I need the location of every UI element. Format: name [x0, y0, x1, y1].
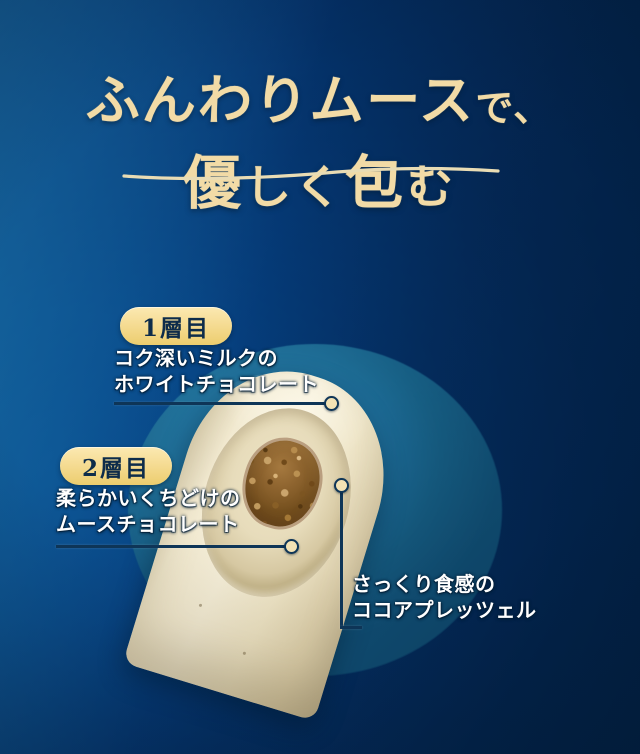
pretzel-leader-line-vertical [340, 486, 343, 629]
layer-1-leader-line [114, 402, 336, 405]
layer-1-badge: 1層目 [120, 307, 232, 345]
pretzel-description-line-1: さっくり食感の [352, 572, 537, 598]
layer-2-description-line-2: ムースチョコレート [56, 512, 241, 538]
cocoa-pretzel-filling [235, 432, 329, 535]
layer-2-description: 柔らかいくちどけの ムースチョコレート [56, 486, 241, 537]
layer-1-description-line-1: コク深いミルクの [114, 346, 319, 372]
pretzel-leader-line-horizontal [340, 626, 362, 629]
layer-1-description-line-2: ホワイトチョコレート [114, 372, 319, 398]
promo-image: ふんわりムースで、 優しく包む 1層目 コク深いミルクの ホワイトチョコレート … [0, 0, 640, 754]
layer-2-leader-dot [284, 539, 299, 554]
pretzel-description-line-2: ココアプレッツェル [352, 598, 537, 624]
layer-1-leader-dot [324, 396, 339, 411]
layer-1-description: コク深いミルクの ホワイトチョコレート [114, 346, 319, 397]
product-scene [0, 0, 640, 754]
pretzel-leader-dot [334, 478, 349, 493]
layer-2-badge: 2層目 [60, 447, 172, 485]
pretzel-texture [235, 432, 329, 535]
layer-2-description-line-1: 柔らかいくちどけの [56, 486, 241, 512]
layer-2-leader-line [56, 545, 296, 548]
pretzel-description: さっくり食感の ココアプレッツェル [352, 572, 537, 623]
